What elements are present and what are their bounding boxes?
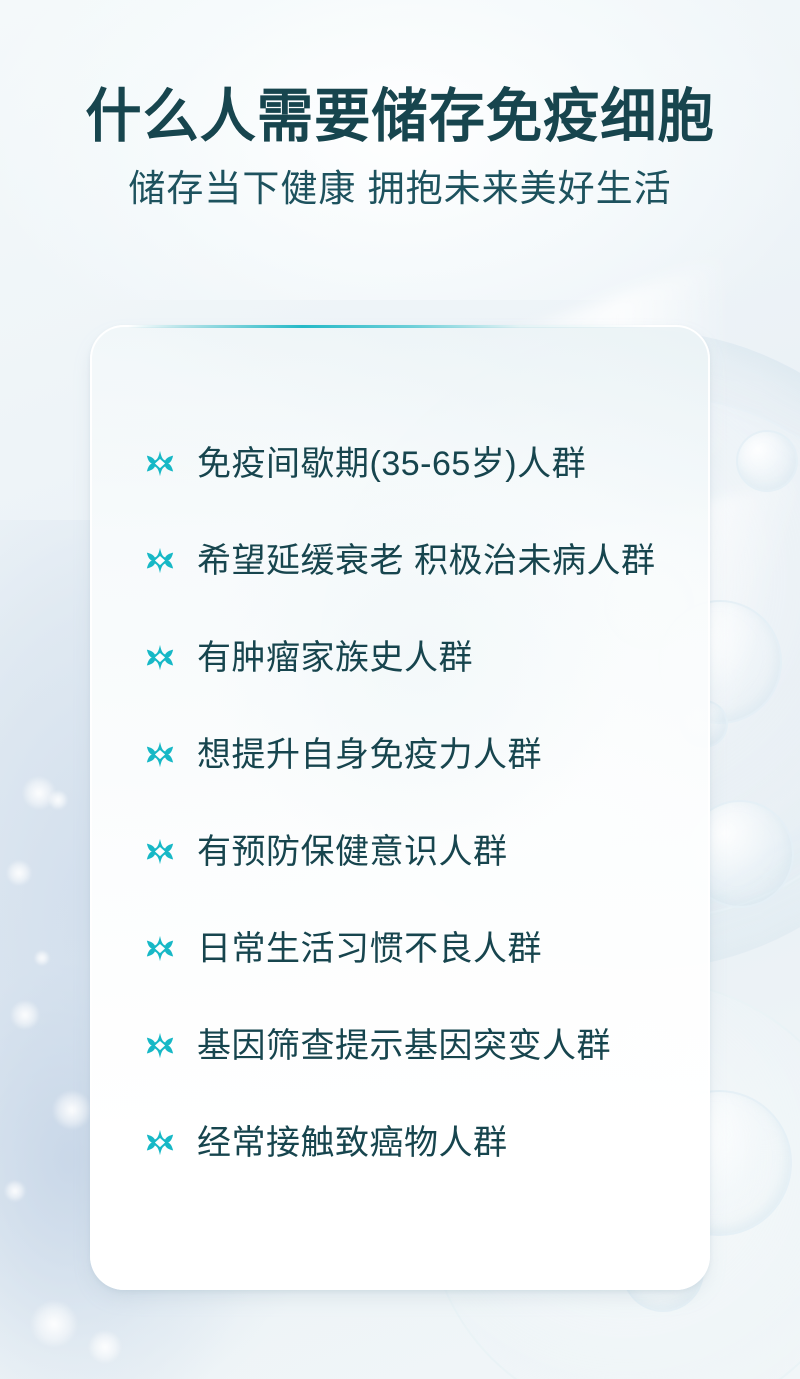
four-point-star-icon (145, 1031, 175, 1061)
four-point-star-icon (145, 740, 175, 770)
four-point-star-icon (145, 837, 175, 867)
list-item[interactable]: 想提升自身免疫力人群 (90, 706, 710, 803)
card-top-accent-line (128, 325, 672, 328)
page-header: 什么人需要储存免疫细胞 储存当下健康 拥抱未来美好生活 (0, 0, 800, 210)
background-bokeh (30, 1300, 78, 1348)
background-bokeh (34, 950, 50, 966)
page-title: 什么人需要储存免疫细胞 (12, 0, 788, 148)
four-point-star-icon (145, 643, 175, 673)
background-bokeh (22, 776, 56, 810)
background-bubble (736, 430, 798, 492)
background-bokeh (48, 790, 68, 810)
four-point-star-icon (145, 449, 175, 479)
background-bokeh (88, 1330, 122, 1364)
list-item-label: 经常接触致癌物人群 (197, 1123, 508, 1163)
list-item[interactable]: 希望延缓衰老 积极治未病人群 (90, 512, 710, 609)
background-bokeh (52, 1090, 92, 1130)
list-item-label: 基因筛查提示基因突变人群 (197, 1026, 611, 1066)
promo-page: 什么人需要储存免疫细胞 储存当下健康 拥抱未来美好生活 免疫间歇期(35-65岁… (0, 0, 800, 1379)
list-item[interactable]: 经常接触致癌物人群 (90, 1094, 710, 1191)
list-item-label: 免疫间歇期(35-65岁)人群 (197, 444, 586, 484)
list-item-label: 希望延缓衰老 积极治未病人群 (197, 541, 655, 581)
list-item[interactable]: 有肿瘤家族史人群 (90, 609, 710, 706)
audience-list: 免疫间歇期(35-65岁)人群 希望延缓衰老 积极治未病人群 有肿瘤家族史人群 (90, 415, 710, 1191)
list-item[interactable]: 基因筛查提示基因突变人群 (90, 997, 710, 1094)
four-point-star-icon (145, 934, 175, 964)
four-point-star-icon (145, 546, 175, 576)
page-subtitle: 储存当下健康 拥抱未来美好生活 (0, 148, 800, 210)
audience-card: 免疫间歇期(35-65岁)人群 希望延缓衰老 积极治未病人群 有肿瘤家族史人群 (90, 325, 710, 1290)
list-item[interactable]: 日常生活习惯不良人群 (90, 900, 710, 997)
list-item-label: 日常生活习惯不良人群 (197, 929, 542, 969)
list-item-label: 想提升自身免疫力人群 (197, 735, 542, 775)
list-item[interactable]: 有预防保健意识人群 (90, 803, 710, 900)
four-point-star-icon (145, 1128, 175, 1158)
background-bokeh (4, 1180, 26, 1202)
background-bokeh (6, 860, 32, 886)
background-bokeh (10, 1000, 40, 1030)
list-item[interactable]: 免疫间歇期(35-65岁)人群 (90, 415, 710, 512)
list-item-label: 有肿瘤家族史人群 (197, 638, 473, 678)
list-item-label: 有预防保健意识人群 (197, 832, 508, 872)
